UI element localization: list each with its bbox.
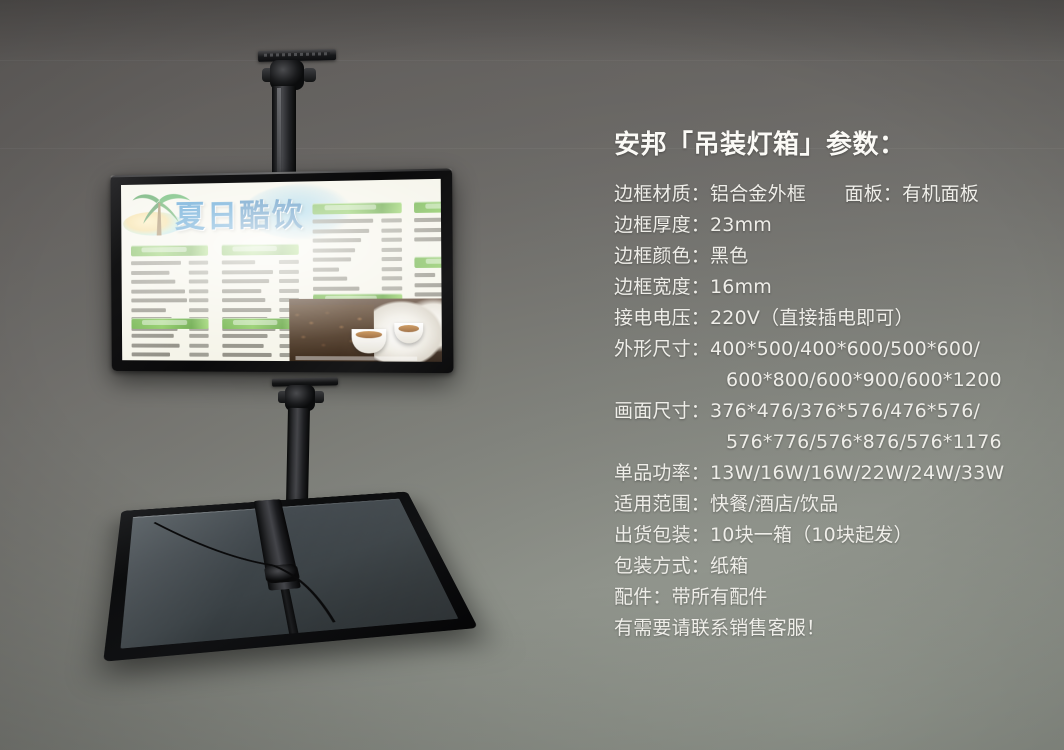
menu-section bbox=[222, 318, 299, 362]
spec-line: 600*800/600*900/600*1200 bbox=[614, 365, 1044, 396]
menu-rows bbox=[132, 332, 209, 362]
menu-rows bbox=[414, 270, 442, 298]
coffee-cup bbox=[352, 329, 387, 353]
menu-row bbox=[222, 296, 299, 304]
bracket-pivot-hub bbox=[264, 564, 301, 584]
menu-row bbox=[222, 267, 299, 276]
spec-title: 安邦「吊装灯箱」参数： bbox=[614, 124, 1044, 161]
poster-footer-strip bbox=[295, 356, 417, 361]
product-photo-stage: 夏日酷饮 bbox=[0, 0, 1064, 750]
menu-row bbox=[313, 255, 402, 264]
menu-section-header bbox=[131, 245, 208, 257]
menu-row bbox=[131, 259, 208, 268]
menu-section bbox=[131, 318, 208, 362]
spec-line-extra: 面板：有机面板 bbox=[845, 183, 979, 205]
menu-section bbox=[414, 256, 442, 300]
lightbox-front-unit: 夏日酷饮 bbox=[111, 168, 454, 373]
menu-row bbox=[414, 270, 442, 279]
menu-row bbox=[222, 305, 299, 313]
menu-row bbox=[131, 306, 208, 314]
menu-row bbox=[131, 268, 208, 276]
spec-line: 单品功率：13W/16W/16W/22W/24W/33W bbox=[614, 458, 1044, 489]
spec-line: 边框材质：铝合金外框 面板：有机面板 bbox=[614, 179, 1044, 210]
menu-row bbox=[132, 332, 209, 340]
menu-row bbox=[313, 245, 402, 254]
spec-line: 配件：带所有配件 bbox=[614, 582, 1044, 613]
spec-line: 边框厚度：23mm bbox=[614, 210, 1044, 241]
menu-poster: 夏日酷饮 bbox=[121, 179, 442, 362]
spec-line: 576*776/576*876/576*1176 bbox=[614, 427, 1044, 458]
menu-section-header bbox=[414, 200, 442, 212]
menu-rows bbox=[222, 332, 299, 362]
menu-row bbox=[414, 225, 442, 234]
menu-row bbox=[414, 215, 442, 224]
mount-pole-highlight bbox=[277, 88, 281, 182]
menu-row bbox=[222, 277, 299, 285]
menu-row bbox=[313, 226, 402, 235]
menu-row bbox=[313, 236, 402, 245]
spec-line: 接电电压：220V（直接插电即可） bbox=[614, 303, 1044, 334]
menu-row bbox=[222, 332, 299, 340]
mount-pole-lower bbox=[286, 408, 310, 504]
menu-section-header bbox=[312, 202, 401, 215]
spec-line: 有需要请联系销售客服！ bbox=[614, 613, 1044, 644]
menu-section-header bbox=[222, 318, 299, 329]
pivot-wing-right bbox=[303, 68, 316, 82]
menu-section-header bbox=[131, 318, 208, 329]
spec-line: 边框宽度：16mm bbox=[614, 272, 1044, 303]
spec-line: 边框颜色：黑色 bbox=[614, 241, 1044, 272]
menu-row bbox=[415, 290, 442, 299]
menu-row bbox=[222, 286, 299, 294]
menu-row bbox=[132, 350, 209, 358]
spec-line: 包装方式：纸箱 bbox=[614, 551, 1044, 582]
menu-row bbox=[132, 341, 209, 349]
menu-row bbox=[313, 284, 402, 293]
menu-rows bbox=[313, 216, 403, 292]
menu-rows bbox=[414, 215, 442, 244]
menu-row bbox=[131, 287, 208, 295]
menu-section-header bbox=[414, 256, 442, 268]
menu-row bbox=[313, 216, 402, 225]
spec-line: 出货包装：10块一箱（10块起发） bbox=[614, 520, 1044, 551]
menu-row bbox=[313, 265, 402, 274]
menu-row bbox=[222, 351, 299, 359]
menu-section bbox=[312, 202, 402, 294]
menu-section bbox=[414, 200, 442, 245]
spec-line: 画面尺寸：376*476/376*576/476*576/ bbox=[614, 396, 1044, 427]
menu-row bbox=[415, 280, 442, 289]
menu-row bbox=[313, 274, 402, 283]
coffee-cup bbox=[394, 323, 423, 343]
mount-pole-upper bbox=[272, 86, 296, 184]
menu-row bbox=[222, 258, 299, 267]
coffee-photo bbox=[289, 298, 442, 361]
lightbox-display-face: 夏日酷饮 bbox=[121, 179, 442, 362]
spec-line: 适用范围：快餐/酒店/饮品 bbox=[614, 489, 1044, 520]
menu-row bbox=[131, 277, 208, 285]
menu-row bbox=[222, 341, 299, 349]
menu-row bbox=[131, 296, 208, 304]
menu-row bbox=[414, 234, 442, 243]
spec-line: 外形尺寸：400*500/400*600/500*600/ bbox=[614, 334, 1044, 365]
poster-title: 夏日酷饮 bbox=[175, 190, 305, 237]
menu-section-header bbox=[222, 244, 299, 256]
spec-panel: 安邦「吊装灯箱」参数： 边框材质：铝合金外框 面板：有机面板 边框厚度：23mm… bbox=[614, 124, 1044, 644]
spec-line-text: 边框材质：铝合金外框 bbox=[614, 183, 806, 205]
